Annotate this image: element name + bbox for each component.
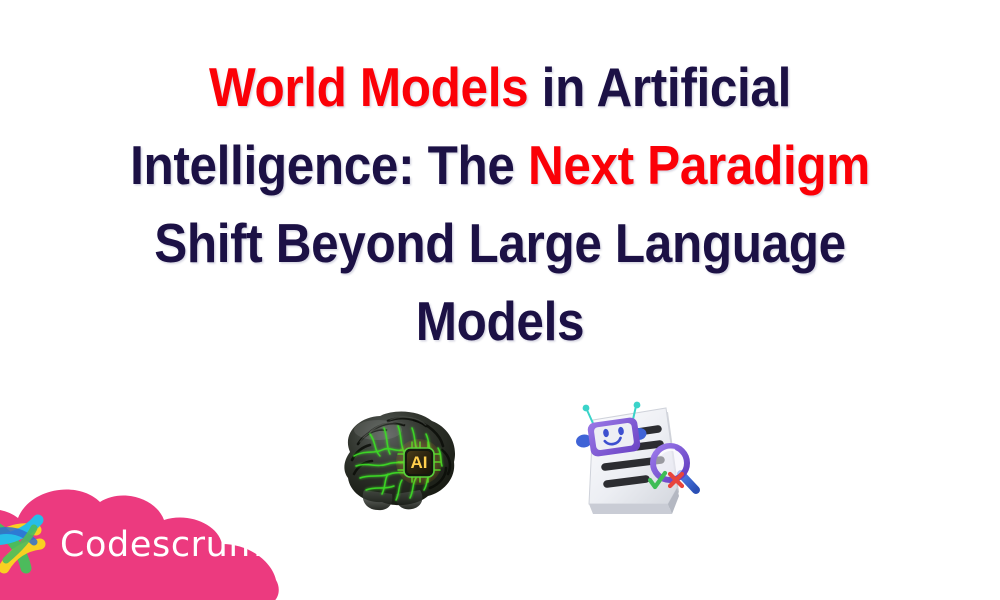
title-line-2: Intelligence: The Next Paradigm	[95, 126, 905, 204]
ai-brain-icon: AI	[330, 404, 462, 512]
title-line-4: Models	[95, 282, 905, 360]
title-line-2-base: Intelligence: The	[130, 134, 528, 196]
title-line-2-accent: Next Paradigm	[528, 134, 870, 196]
page-title: World Models in Artificial Intelligence:…	[95, 48, 905, 360]
poster-canvas: World Models in Artificial Intelligence:…	[0, 0, 1000, 600]
title-line-1-accent: World Models	[209, 56, 528, 118]
title-line-1: World Models in Artificial	[95, 48, 905, 126]
robot-document-icon	[560, 396, 705, 518]
codescrum-wordmark: Codescrum	[60, 528, 263, 563]
ai-chip-label: AI	[411, 453, 428, 472]
title-line-1-base: in Artificial	[528, 56, 791, 118]
codescrum-logo-mark	[0, 506, 54, 580]
title-line-3: Shift Beyond Large Language	[95, 204, 905, 282]
robot-head-icon	[575, 402, 647, 458]
ai-chip: AI	[396, 439, 442, 485]
